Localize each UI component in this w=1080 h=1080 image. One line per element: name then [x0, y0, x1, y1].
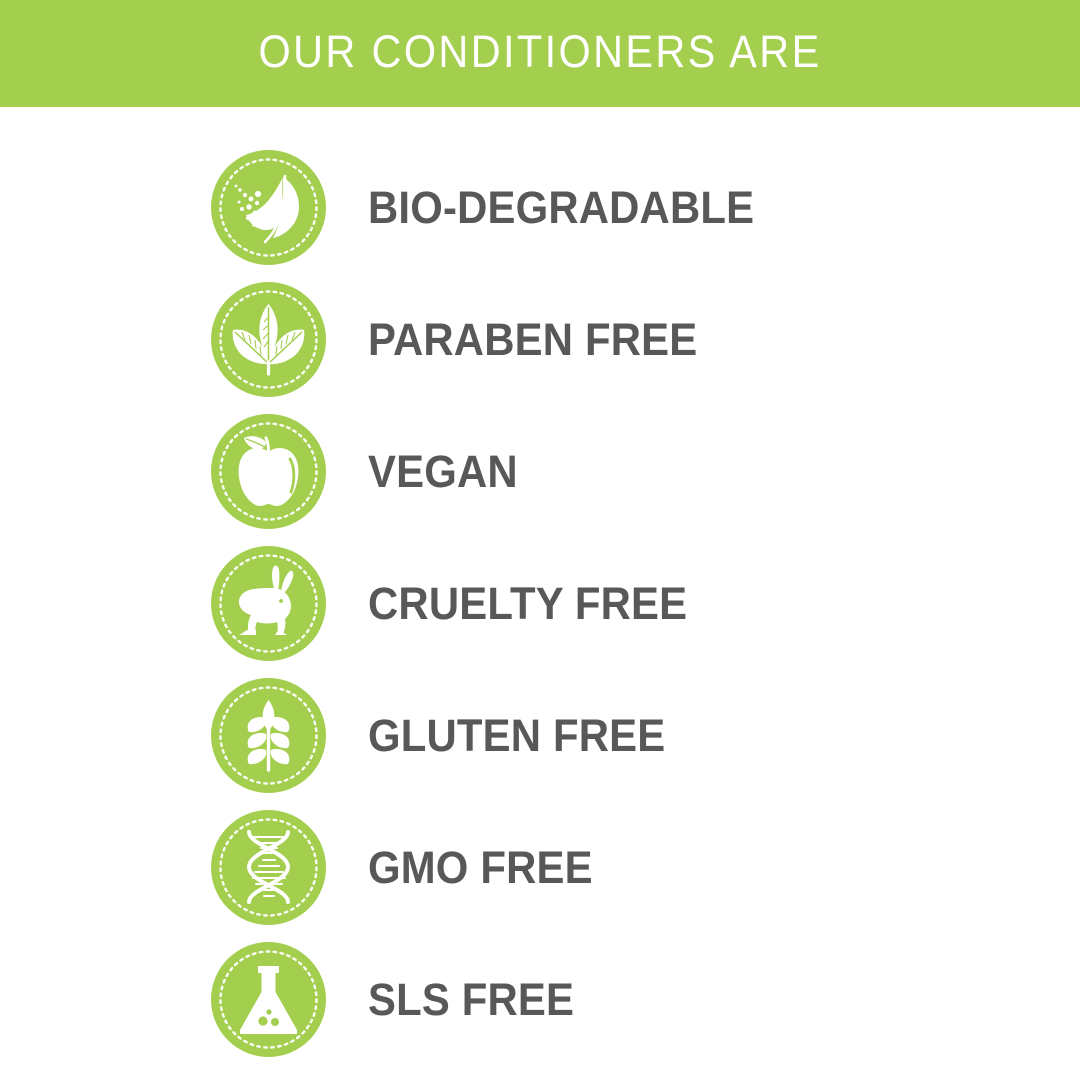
badge-gmo-free — [211, 810, 326, 925]
list-item: CRUELTY FREE — [0, 537, 1080, 669]
page-title: OUR CONDITIONERS ARE — [258, 29, 821, 78]
apple-icon — [211, 414, 326, 529]
feature-label: GMO FREE — [368, 845, 593, 890]
dna-helix-icon — [211, 810, 326, 925]
badge-sls-free — [211, 942, 326, 1057]
rabbit-icon — [211, 546, 326, 661]
feature-label: VEGAN — [368, 449, 518, 494]
badge-bio-degradable — [211, 150, 326, 265]
badge-paraben-free — [211, 282, 326, 397]
leaf-dissolving-icon — [211, 150, 326, 265]
list-item: PARABEN FREE — [0, 273, 1080, 405]
wheat-stalk-icon — [211, 678, 326, 793]
list-item: GMO FREE — [0, 801, 1080, 933]
feature-label: PARABEN FREE — [368, 317, 697, 362]
flask-icon — [211, 942, 326, 1057]
badge-gluten-free — [211, 678, 326, 793]
feature-label: SLS FREE — [368, 977, 574, 1022]
three-leaves-icon — [211, 282, 326, 397]
feature-label: GLUTEN FREE — [368, 713, 665, 758]
list-item: BIO-DEGRADABLE — [0, 141, 1080, 273]
feature-label: BIO-DEGRADABLE — [368, 185, 754, 230]
list-item: SLS FREE — [0, 933, 1080, 1065]
header-banner: OUR CONDITIONERS ARE — [0, 0, 1080, 107]
list-item: GLUTEN FREE — [0, 669, 1080, 801]
badge-cruelty-free — [211, 546, 326, 661]
feature-label: CRUELTY FREE — [368, 581, 687, 626]
list-item: VEGAN — [0, 405, 1080, 537]
feature-list: BIO-DEGRADABLE — [0, 107, 1080, 1080]
product-claims-infographic: OUR CONDITIONERS ARE — [0, 0, 1080, 1080]
badge-vegan — [211, 414, 326, 529]
